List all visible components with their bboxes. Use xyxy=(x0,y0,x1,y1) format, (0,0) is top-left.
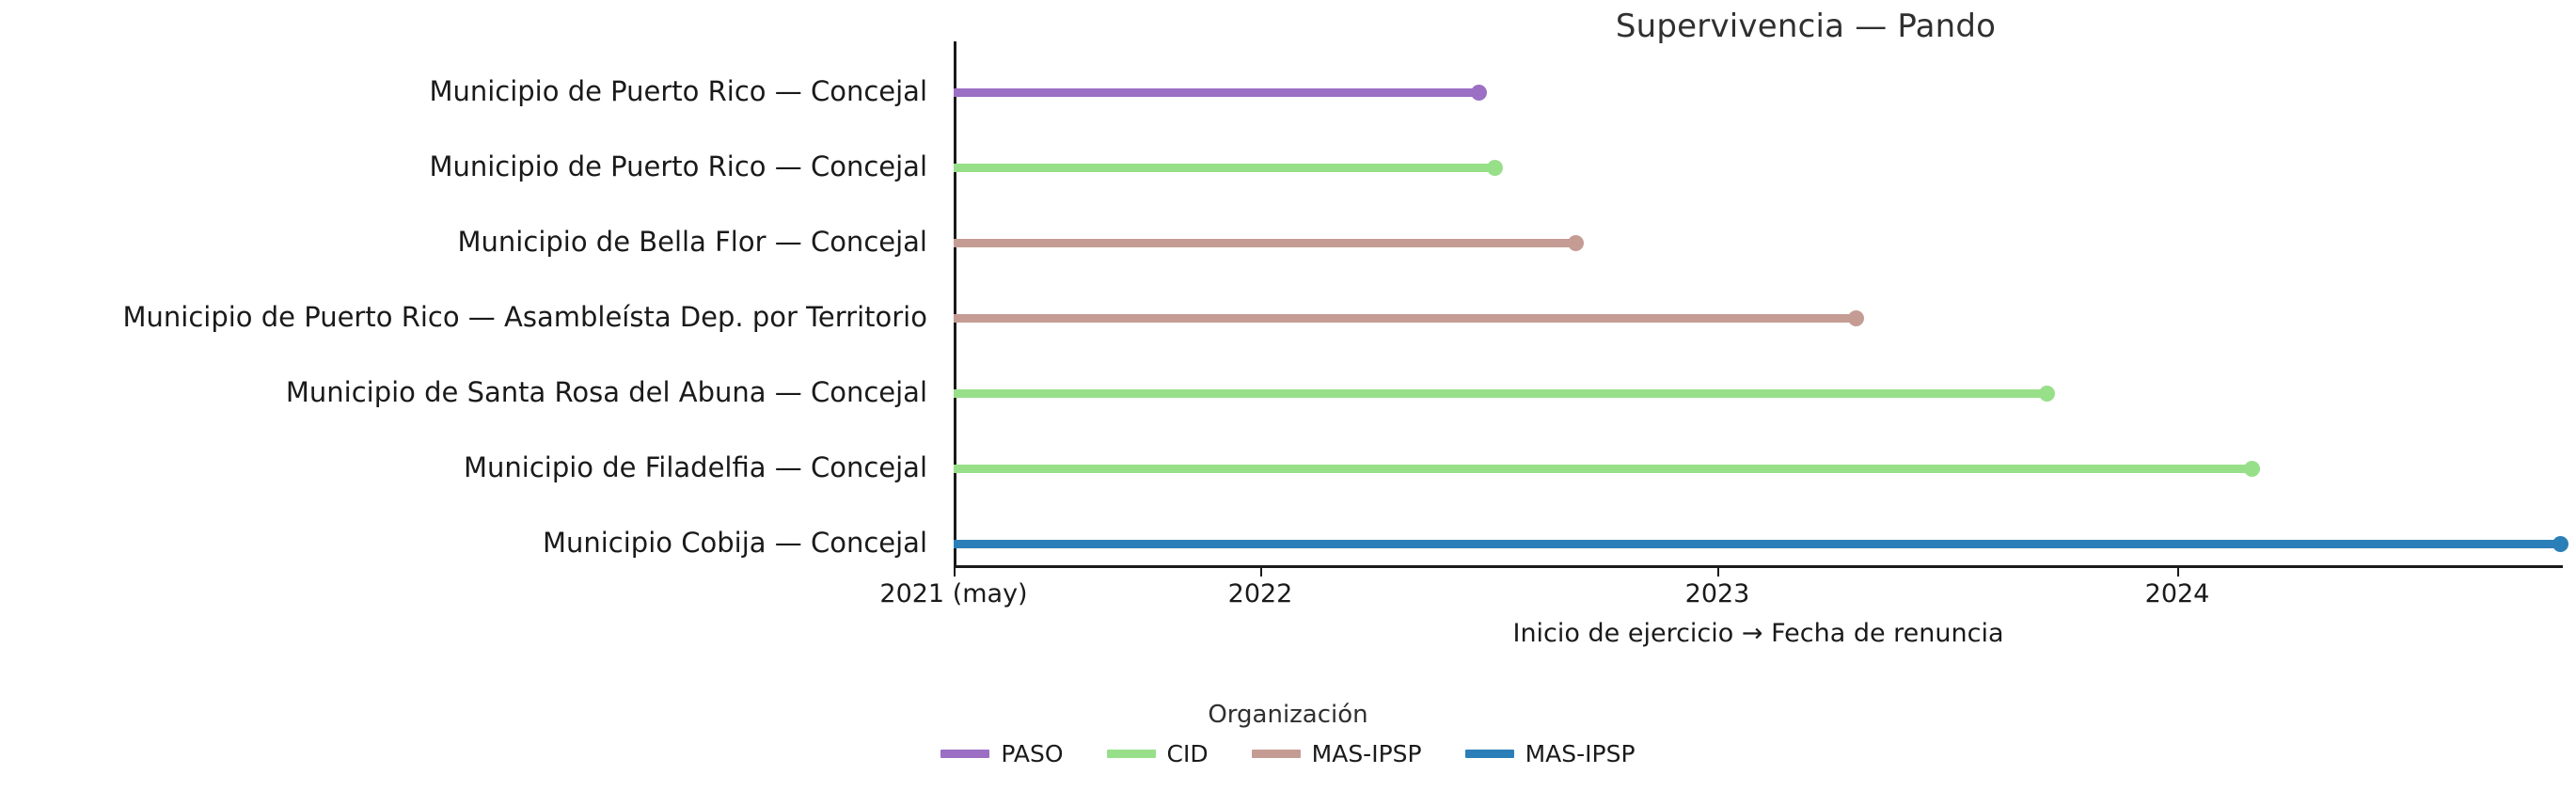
lollipop-endpoint-dot xyxy=(1471,85,1487,101)
x-axis-tick-mark xyxy=(1717,568,1719,577)
y-axis-tick-label: Municipio de Puerto Rico — Concejal xyxy=(429,78,927,105)
legend-item[interactable]: PASO xyxy=(940,740,1063,767)
lollipop-line xyxy=(954,164,1494,172)
y-axis-tick-label: Municipio de Santa Rosa del Abuna — Conc… xyxy=(286,379,927,406)
legend-item-label: MAS-IPSP xyxy=(1525,740,1636,767)
lollipop-line xyxy=(954,88,1478,97)
y-axis-tick-label: Municipio Cobija — Concejal xyxy=(543,529,927,557)
legend-item[interactable]: MAS-IPSP xyxy=(1252,740,1422,767)
y-axis-labels: Municipio de Puerto Rico — ConcejalMunic… xyxy=(0,41,940,568)
y-axis-tick-label: Municipio de Filadelfia — Concejal xyxy=(464,454,927,482)
legend-item-label: PASO xyxy=(1001,740,1063,767)
y-axis-tick-label: Municipio de Bella Flor — Concejal xyxy=(458,229,927,256)
lollipop-line xyxy=(954,314,1856,323)
lollipop-line xyxy=(954,389,2047,398)
x-axis-tick-label: 2021 (may) xyxy=(879,579,1027,608)
x-axis-tick-label: 2022 xyxy=(1228,579,1293,608)
lollipop-endpoint-dot xyxy=(2244,461,2260,477)
legend-item[interactable]: CID xyxy=(1107,740,1209,767)
legend: Organización PASOCIDMAS-IPSPMAS-IPSP xyxy=(0,701,2576,767)
legend-title: Organización xyxy=(0,701,2576,729)
x-axis-tick-mark xyxy=(1260,568,1262,577)
lollipop-endpoint-dot xyxy=(2552,536,2568,552)
plot-area xyxy=(954,41,2563,568)
legend-swatch-icon xyxy=(1107,750,1156,758)
lollipop-endpoint-dot xyxy=(1568,235,1584,251)
x-axis-tick-label: 2023 xyxy=(1685,579,1750,608)
legend-items: PASOCIDMAS-IPSPMAS-IPSP xyxy=(0,740,2576,767)
legend-item-label: MAS-IPSP xyxy=(1312,740,1422,767)
legend-swatch-icon xyxy=(1252,750,1301,758)
legend-swatch-icon xyxy=(1465,750,1514,758)
lollipop-line xyxy=(954,540,2560,548)
lollipop-endpoint-dot xyxy=(1487,160,1503,176)
x-axis-tick-label: 2024 xyxy=(2145,579,2210,608)
y-axis-spine xyxy=(954,41,956,568)
legend-item-label: CID xyxy=(1167,740,1209,767)
legend-swatch-icon xyxy=(940,750,989,758)
chart-title: Supervivencia — Pando xyxy=(1345,8,2267,45)
x-axis-tick-mark xyxy=(2177,568,2179,577)
x-axis-ticks: 2021 (may)202220232024 xyxy=(954,568,2563,611)
lollipop-line xyxy=(954,239,1575,247)
lollipop-line xyxy=(954,465,2252,473)
y-axis-tick-label: Municipio de Puerto Rico — Asambleísta D… xyxy=(123,304,928,331)
legend-item[interactable]: MAS-IPSP xyxy=(1465,740,1636,767)
lollipop-endpoint-dot xyxy=(2039,386,2055,402)
lollipop-endpoint-dot xyxy=(1848,310,1864,326)
chart-figure: Supervivencia — Pando Municipio de Puert… xyxy=(0,0,2576,790)
x-axis-title: Inicio de ejercicio → Fecha de renuncia xyxy=(954,619,2563,648)
x-axis-tick-mark xyxy=(954,568,956,577)
y-axis-tick-label: Municipio de Puerto Rico — Concejal xyxy=(429,153,927,181)
